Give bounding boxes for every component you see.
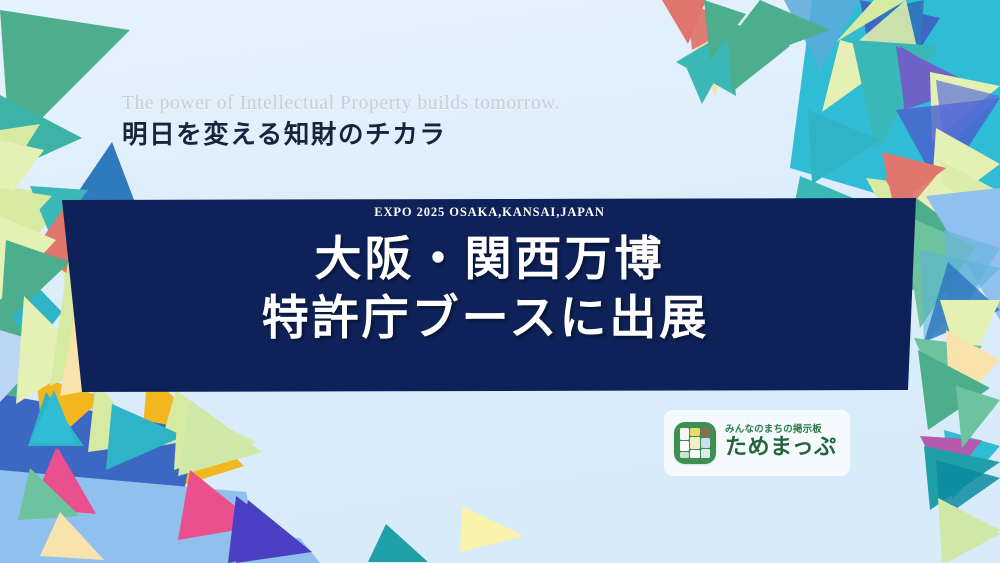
banner-headline-line-1: 大阪・関西万博 — [74, 232, 905, 287]
banner-text-block: EXPO 2025 OSAKA,KANSAI,JAPAN 大阪・関西万博 特許庁… — [60, 205, 905, 347]
tagline-block: The power of Intellectual Property build… — [122, 92, 762, 153]
logo-tagline: みんなのまちの掲示板 — [725, 425, 837, 435]
tagline-japanese: 明日を変える知財のチカラ — [122, 118, 762, 152]
logo-tile-7 — [690, 450, 700, 458]
poster-canvas: The power of Intellectual Property build… — [0, 0, 1000, 563]
tamemap-logo-icon — [674, 422, 716, 464]
logo-tile-8 — [701, 449, 710, 458]
logo-tile-5 — [701, 438, 710, 448]
logo-tile-3 — [680, 441, 689, 451]
logo-tile-0 — [680, 428, 689, 440]
logo-tile-4 — [690, 437, 700, 449]
logo-tile-2 — [701, 428, 710, 437]
logo-tile-grid — [680, 428, 710, 458]
logo-tile-1 — [690, 428, 700, 436]
banner-eyebrow: EXPO 2025 OSAKA,KANSAI,JAPAN — [74, 205, 905, 220]
logo-name: ためまっぷ — [725, 436, 837, 461]
logo-tile-6 — [680, 452, 689, 458]
tamemap-logo-lockup[interactable]: みんなのまちの掲示板 ためまっぷ — [664, 410, 850, 476]
banner-headline-line-2: 特許庁ブースに出展 — [66, 291, 905, 346]
logo-text-block: みんなのまちの掲示板 ためまっぷ — [725, 425, 837, 461]
tagline-english: The power of Intellectual Property build… — [122, 92, 762, 116]
